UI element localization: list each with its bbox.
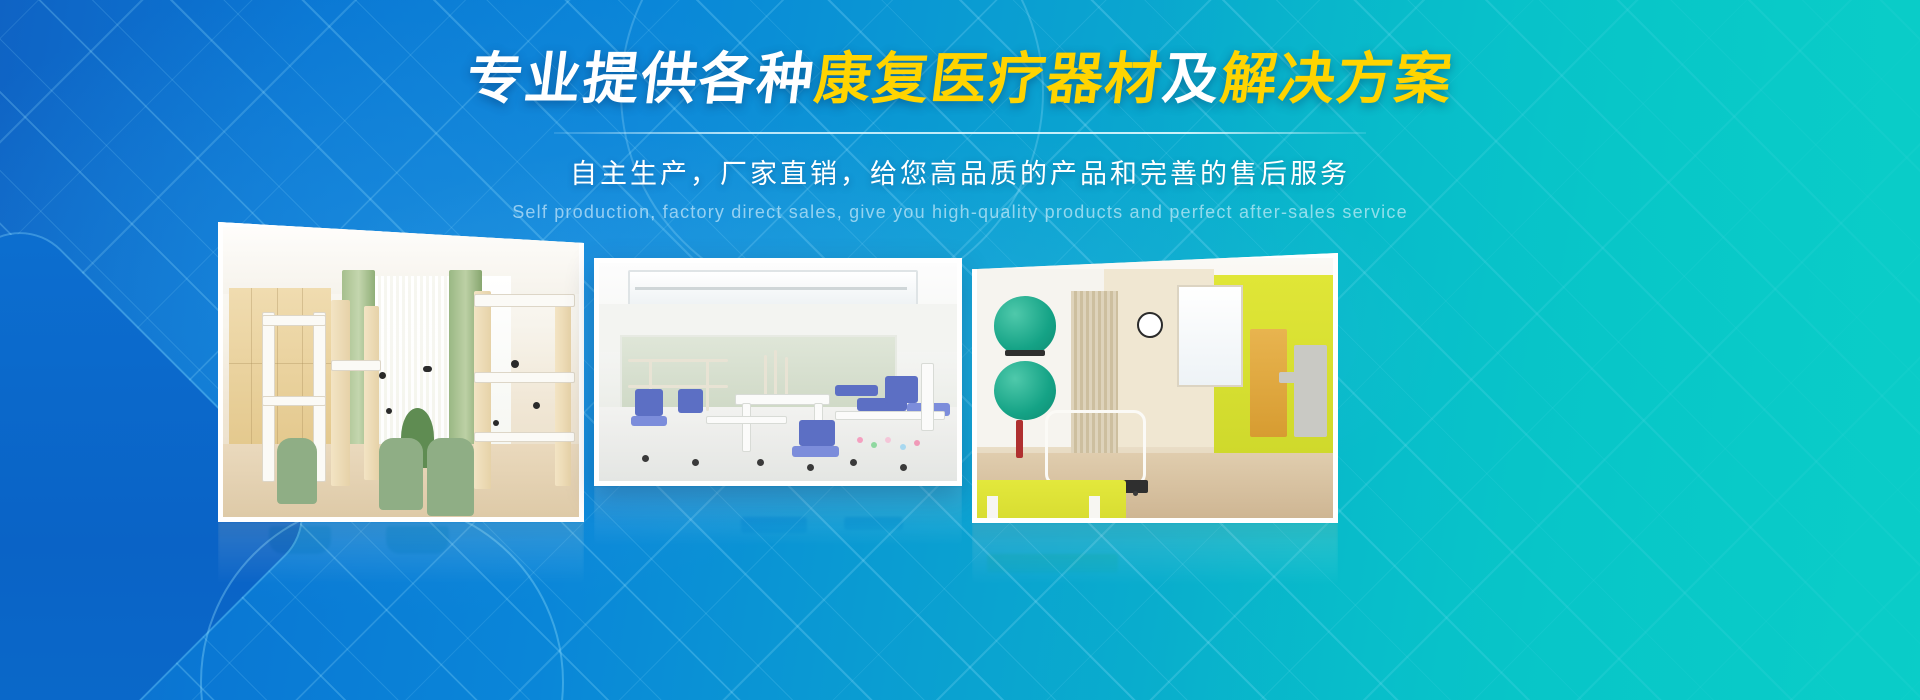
headline-part-2: 康复医疗器材 [811,47,1167,112]
headline-part-1: 专业提供各种 [463,47,819,112]
headline-part-3: 及 [1159,47,1225,112]
headline: 专业提供各种康复医疗器材及解决方案 [464,52,1457,108]
banner-text-block: 专业提供各种康复医疗器材及解决方案 自主生产，厂家直销，给您高品质的产品和完善的… [0,52,1920,223]
promo-banner: 专业提供各种康复医疗器材及解决方案 自主生产，厂家直销，给您高品质的产品和完善的… [0,0,1920,700]
photo-center-scene [599,263,957,481]
photo-left-frame [218,222,584,522]
photo-equipment-room-right[interactable] [972,253,1338,523]
subtitle-english: Self production, factory direct sales, g… [0,202,1920,223]
photo-rehab-room-left[interactable] [218,222,584,522]
subtitle-chinese: 自主生产，厂家直销，给您高品质的产品和完善的售后服务 [0,152,1920,191]
photo-therapy-gym-center[interactable] [594,258,962,486]
photo-right-frame [972,253,1338,523]
headline-part-4: 解决方案 [1217,47,1457,112]
headline-divider [554,132,1366,134]
